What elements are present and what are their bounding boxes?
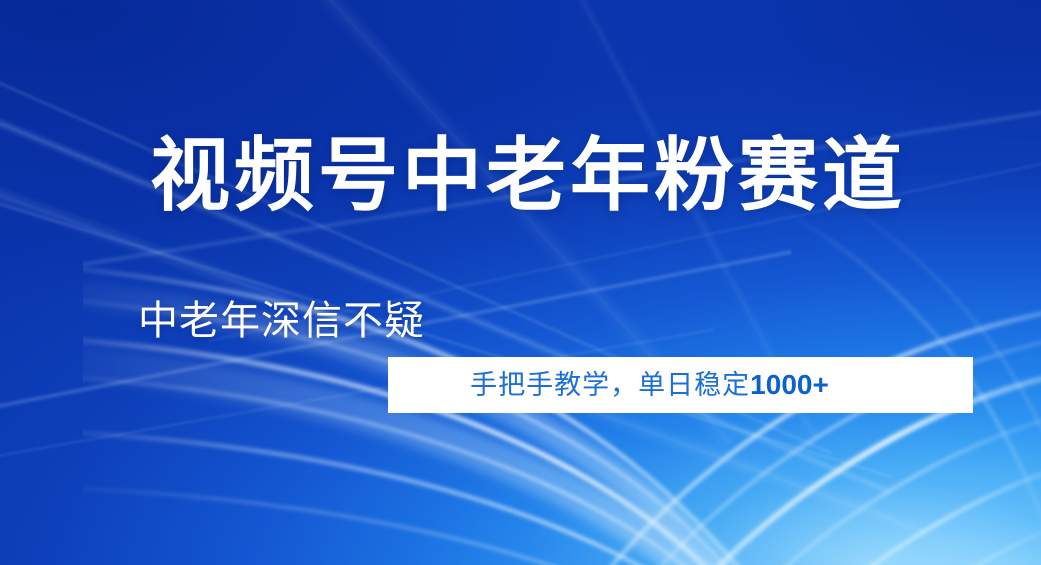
ribbon-text: 手把手教学，单日稳定1000+: [470, 370, 891, 400]
ribbon-highlight-number: 1000+: [750, 369, 829, 400]
promo-banner: 视频号中老年粉赛道 中老年深信不疑 手把手教学，单日稳定1000+: [0, 0, 1041, 565]
background-bottom-glow: [0, 0, 1041, 565]
ribbon-text-prefix: 手把手教学，单日稳定: [470, 370, 750, 400]
banner-headline: 视频号中老年粉赛道: [150, 128, 950, 224]
banner-subheadline: 中老年深信不疑: [138, 296, 425, 346]
banner-ribbon: 手把手教学，单日稳定1000+: [388, 357, 973, 413]
